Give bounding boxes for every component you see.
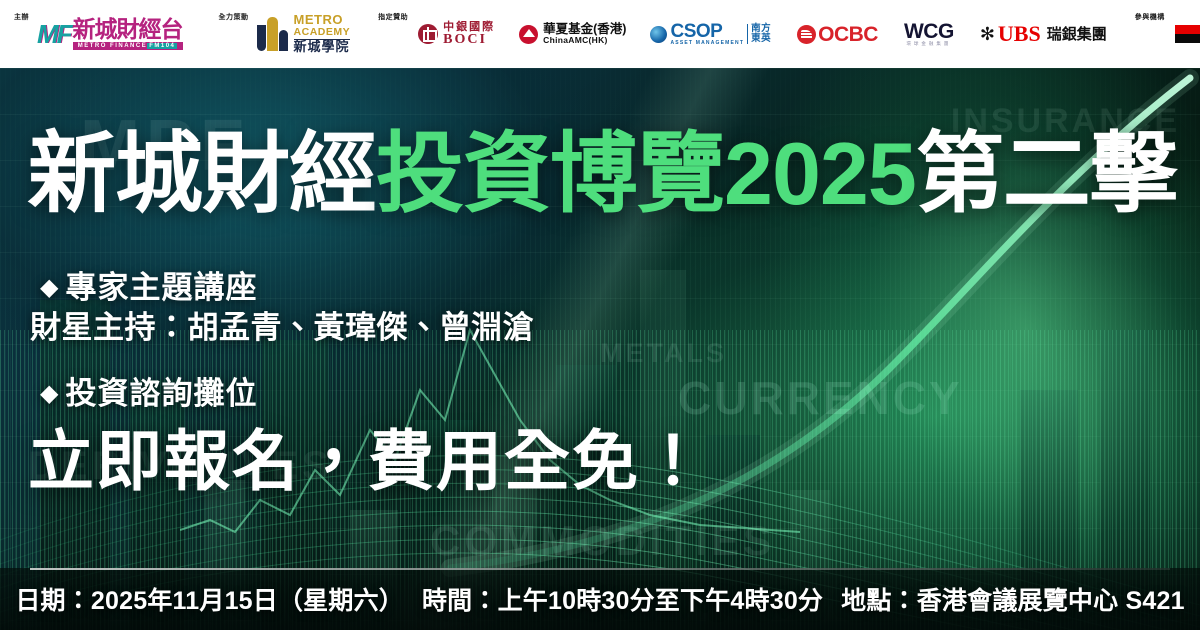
venue-label: 地點： [841,587,917,615]
boci-mark-icon [418,24,438,44]
highlight-item-2: ◆投資諮詢攤位 [30,374,534,414]
logo-metro-academy[interactable]: METRO ACADEMY 新城學院 [257,13,351,55]
chinaamc-mark-icon [519,25,538,44]
metro-finance-en-name: METRO FINANCEFM104 [73,42,183,50]
logo-ocbc[interactable]: OCBC [797,24,878,45]
metro-finance-en-text: METRO FINANCE [78,43,148,49]
wcg-wordmark: WCG [904,20,954,43]
metro-finance-mark-icon: MF [37,21,71,47]
time-label: 時間： [422,587,498,615]
headline-part-green: 投資博覽2025 [376,124,916,223]
sponsor-role-label-participants: 參與機構 [1135,12,1165,22]
headline-part-white-1: 新城財經 [28,124,376,223]
logo-chinaamc[interactable]: 華夏基金(香港) ChinaAMC(HK) [519,23,626,45]
metro-academy-mark-icon [257,17,288,51]
sponsor-group-sponsors: 指定贊助 中銀國際 BOCI 華夏基金(香港) ChinaAMC(HK) [378,0,1107,68]
sponsor-group-participants: 參與機構 法興銀行 SOCIETE GENERALE [1135,0,1200,68]
chinaamc-zh-name: 華夏基金(香港) [543,23,626,36]
diamond-bullet-icon-2: ◆ [40,380,59,407]
societe-generale-mark-icon [1175,25,1200,43]
metro-finance-fm-badge: FM104 [147,43,177,49]
metro-academy-zh-name: 新城學院 [294,40,351,55]
diamond-bullet-icon: ◆ [40,274,59,301]
logo-wcg[interactable]: WCG 環球金融集團 [904,21,954,47]
sponsor-group-supporter: 全力策動 METRO ACADEMY 新城學院 [219,0,351,68]
date-label: 日期： [15,587,91,615]
logo-metro-finance[interactable]: MF 新城財經台 METRO FINANCEFM104 [37,18,183,50]
boci-en-name: BOCI [443,33,495,47]
highlight-item-1-detail: 財星主持：胡孟青、黃瑋傑、曾淵滄 [30,308,534,348]
csop-zh-name: 南方東英 [747,24,771,44]
date-value: 2025年11月15日（星期六） [91,587,404,615]
event-details-bar: 日期：2025年11月15日（星期六）時間：上午10時30分至下午4時30分地點… [0,568,1200,630]
logo-csop[interactable]: CSOP ASSET MANAGEMENT 南方東英 [650,22,771,46]
ubs-zh-name: 瑞銀集團 [1047,27,1107,42]
venue-value: 香港會議展覽中心 S421 [917,587,1185,615]
highlight-item-2-label: 投資諮詢攤位 [65,376,257,411]
ubs-en-name: UBS [998,23,1041,45]
ocbc-en-name: OCBC [818,24,878,45]
cta-text: 立即報名，費用全免！ [28,428,708,494]
metro-academy-en-line1: METRO [294,13,351,27]
page-title: 新城財經投資博覽2025第二擊 [28,130,1177,218]
ocbc-mark-icon [797,25,816,44]
highlight-item-1-label: 專家主題講座 [65,270,257,305]
highlight-list: ◆專家主題講座 財星主持：胡孟青、黃瑋傑、曾淵滄 ◆投資諮詢攤位 [30,268,534,414]
sponsor-role-label-sponsors: 指定贊助 [378,12,408,22]
logo-ubs[interactable]: ✻ UBS 瑞銀集團 [980,23,1107,45]
logo-societe-generale[interactable]: 法興銀行 SOCIETE GENERALE [1175,21,1200,46]
csop-mark-icon [650,26,667,43]
chinaamc-en-name: ChinaAMC(HK) [543,36,626,45]
sponsor-role-label-organiser: 主辦 [14,12,29,22]
wcg-en-name: WCG [904,21,954,42]
sponsor-group-organiser: 主辦 MF 新城財經台 METRO FINANCEFM104 [14,0,183,68]
sponsor-bar: 主辦 MF 新城財經台 METRO FINANCEFM104 全力策動 MET [0,0,1200,68]
csop-en-name: CSOP [670,22,744,41]
highlight-spacer [30,348,534,374]
metro-academy-en-line2: ACADEMY [294,27,351,40]
metro-finance-zh-name: 新城財經台 [73,18,183,41]
event-details-text: 日期：2025年11月15日（星期六）時間：上午10時30分至下午4時30分地點… [15,581,1184,617]
csop-en-subtitle: ASSET MANAGEMENT [670,41,744,46]
sponsor-role-label-supporter: 全力策動 [219,12,249,22]
event-poster: 主辦 MF 新城財經台 METRO FINANCEFM104 全力策動 MET [0,0,1200,630]
time-value: 上午10時30分至下午4時30分 [498,587,824,615]
logo-boci[interactable]: 中銀國際 BOCI [418,21,495,47]
hero-content: 新城財經投資博覽2025第二擊 ◆專家主題講座 財星主持：胡孟青、黃瑋傑、曾淵滄… [0,68,1200,630]
highlight-item-1: ◆專家主題講座 [30,268,534,308]
ubs-keys-icon: ✻ [980,25,995,43]
headline-part-white-2: 第二擊 [916,124,1177,223]
